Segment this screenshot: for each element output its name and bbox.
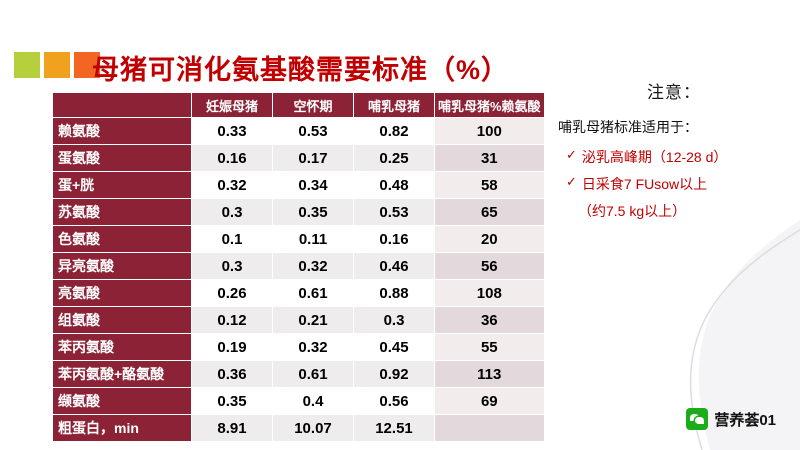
column-header-4: 哺乳母猪%赖氨酸	[435, 93, 545, 118]
row-label: 蛋+胱	[53, 172, 192, 199]
page-title: 母猪可消化氨基酸需要标准（%）	[92, 48, 509, 87]
table-row: 苏氨酸 0.3 0.35 0.53 65	[53, 199, 545, 226]
cell-value: 0.4	[273, 388, 354, 415]
cell-value: 0.1	[192, 226, 273, 253]
cell-value: 0.82	[354, 118, 435, 145]
cell-value: 0.25	[354, 145, 435, 172]
cell-value: 65	[435, 199, 545, 226]
cell-value: 113	[435, 361, 545, 388]
cell-value	[435, 415, 545, 442]
table-row: 粗蛋白，min 8.91 10.07 12.51	[53, 415, 545, 442]
account-name: 营养荟01	[714, 409, 776, 430]
table-row: 苯丙氨酸+酪氨酸 0.36 0.61 0.92 113	[53, 361, 545, 388]
table-row: 缬氨酸 0.35 0.4 0.56 69	[53, 388, 545, 415]
cell-value: 0.17	[273, 145, 354, 172]
cell-value: 0.33	[192, 118, 273, 145]
row-label: 粗蛋白，min	[53, 415, 192, 442]
note-item: ✓ 日采食7 FUsow以上	[566, 174, 792, 194]
table-row: 异亮氨酸 0.3 0.32 0.46 56	[53, 253, 545, 280]
amino-acid-table: 妊娠母猪 空怀期 哺乳母猪 哺乳母猪%赖氨酸 赖氨酸 0.33 0.53 0.8…	[52, 92, 545, 442]
cell-value: 100	[435, 118, 545, 145]
square-green-icon	[14, 52, 40, 78]
row-label: 蛋氨酸	[53, 145, 192, 172]
row-label: 赖氨酸	[53, 118, 192, 145]
row-label: 苯丙氨酸+酪氨酸	[53, 361, 192, 388]
table-header: 妊娠母猪 空怀期 哺乳母猪 哺乳母猪%赖氨酸	[53, 93, 545, 118]
column-header-3: 哺乳母猪	[354, 93, 435, 118]
cell-value: 0.36	[192, 361, 273, 388]
decorative-squares	[14, 52, 100, 78]
cell-value: 0.32	[273, 253, 354, 280]
row-label: 亮氨酸	[53, 280, 192, 307]
table-row: 色氨酸 0.1 0.11 0.16 20	[53, 226, 545, 253]
column-header-1: 妊娠母猪	[192, 93, 273, 118]
cell-value: 58	[435, 172, 545, 199]
cell-value: 36	[435, 307, 545, 334]
check-icon: ✓	[566, 147, 577, 164]
cell-value: 0.3	[192, 253, 273, 280]
cell-value: 0.61	[273, 361, 354, 388]
notes-panel: 注意： 哺乳母猪标准适用于： ✓ 泌乳高峰期（12-28 d） ✓ 日采食7 F…	[556, 78, 792, 221]
cell-value: 0.45	[354, 334, 435, 361]
table-row: 赖氨酸 0.33 0.53 0.82 100	[53, 118, 545, 145]
check-icon: ✓	[566, 174, 577, 191]
table-row: 蛋+胱 0.32 0.34 0.48 58	[53, 172, 545, 199]
cell-value: 0.3	[192, 199, 273, 226]
note-item: ✓ 泌乳高峰期（12-28 d）	[566, 147, 792, 167]
cell-value: 20	[435, 226, 545, 253]
column-header-2: 空怀期	[273, 93, 354, 118]
cell-value: 0.11	[273, 226, 354, 253]
cell-value: 0.3	[354, 307, 435, 334]
cell-value: 8.91	[192, 415, 273, 442]
cell-value: 0.53	[273, 118, 354, 145]
table-body: 赖氨酸 0.33 0.53 0.82 100 蛋氨酸 0.16 0.17 0.2…	[53, 118, 545, 442]
cell-value: 0.35	[273, 199, 354, 226]
cell-value: 69	[435, 388, 545, 415]
cell-value: 0.19	[192, 334, 273, 361]
note-item-text: 日采食7 FUsow以上	[582, 174, 707, 194]
cell-value: 12.51	[354, 415, 435, 442]
cell-value: 31	[435, 145, 545, 172]
note-item-text: 泌乳高峰期（12-28 d）	[582, 147, 727, 167]
wechat-icon	[686, 408, 708, 430]
cell-value: 56	[435, 253, 545, 280]
square-orange-icon	[44, 52, 70, 78]
cell-value: 55	[435, 334, 545, 361]
row-label: 苏氨酸	[53, 199, 192, 226]
cell-value: 108	[435, 280, 545, 307]
table-header-row: 妊娠母猪 空怀期 哺乳母猪 哺乳母猪%赖氨酸	[53, 93, 545, 118]
row-label: 组氨酸	[53, 307, 192, 334]
cell-value: 0.53	[354, 199, 435, 226]
cell-value: 0.48	[354, 172, 435, 199]
cell-value: 0.32	[273, 334, 354, 361]
notes-title: 注意：	[556, 78, 792, 103]
cell-value: 0.26	[192, 280, 273, 307]
row-label: 苯丙氨酸	[53, 334, 192, 361]
column-header-0	[53, 93, 192, 118]
cell-value: 0.32	[192, 172, 273, 199]
row-label: 异亮氨酸	[53, 253, 192, 280]
cell-value: 0.46	[354, 253, 435, 280]
note-sub-text: （约7.5 kg以上）	[578, 201, 792, 221]
cell-value: 0.56	[354, 388, 435, 415]
cell-value: 0.16	[192, 145, 273, 172]
row-label: 色氨酸	[53, 226, 192, 253]
cell-value: 0.12	[192, 307, 273, 334]
cell-value: 0.21	[273, 307, 354, 334]
cell-value: 0.35	[192, 388, 273, 415]
notes-lead: 哺乳母猪标准适用于：	[558, 117, 792, 137]
cell-value: 0.92	[354, 361, 435, 388]
row-label: 缬氨酸	[53, 388, 192, 415]
cell-value: 0.61	[273, 280, 354, 307]
account-badge: 营养荟01	[686, 408, 776, 430]
cell-value: 10.07	[273, 415, 354, 442]
amino-acid-table-wrapper: 妊娠母猪 空怀期 哺乳母猪 哺乳母猪%赖氨酸 赖氨酸 0.33 0.53 0.8…	[52, 92, 545, 442]
cell-value: 0.34	[273, 172, 354, 199]
table-row: 组氨酸 0.12 0.21 0.3 36	[53, 307, 545, 334]
table-row: 亮氨酸 0.26 0.61 0.88 108	[53, 280, 545, 307]
cell-value: 0.88	[354, 280, 435, 307]
cell-value: 0.16	[354, 226, 435, 253]
table-row: 蛋氨酸 0.16 0.17 0.25 31	[53, 145, 545, 172]
table-row: 苯丙氨酸 0.19 0.32 0.45 55	[53, 334, 545, 361]
